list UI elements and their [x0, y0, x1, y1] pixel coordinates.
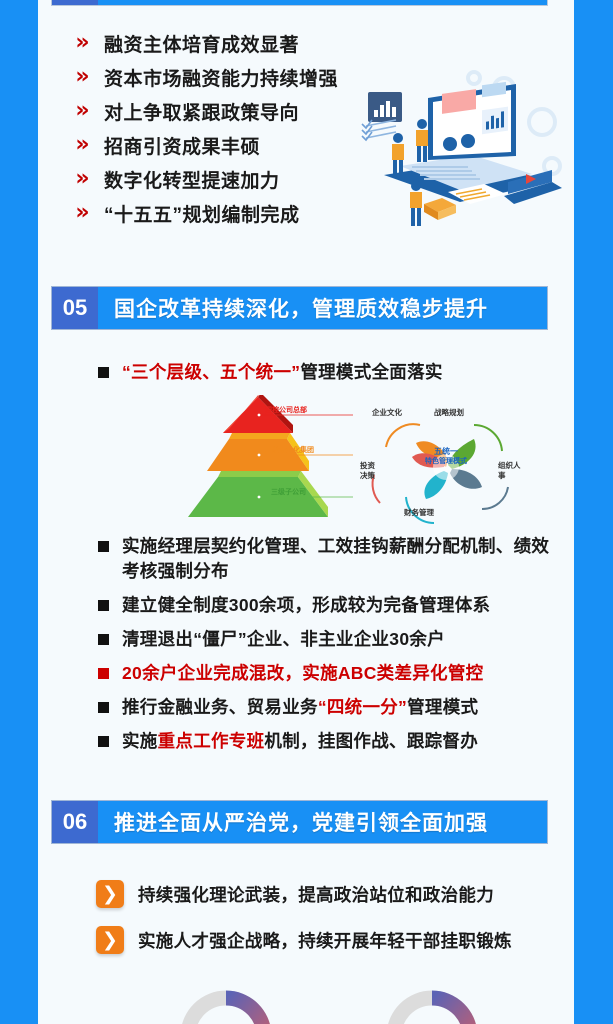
normal-text: 推行金融业务、贸易业务 [122, 697, 318, 717]
list-item: 实施重点工作专班机制，挂图作战、跟踪督办 [98, 729, 558, 754]
normal-text: 实施 [122, 731, 158, 751]
double-chevron-right-icon: » [58, 134, 104, 156]
list-item-label: 融资主体培育成效显著 [104, 30, 299, 57]
section05-bullet-list: 实施经理层契约化管理、工效挂钩薪酬分配机制、绩效考核强制分布 建立健全制度300… [98, 534, 558, 763]
list-item: 实施经理层契约化管理、工效挂钩薪酬分配机制、绩效考核强制分布 [98, 534, 558, 584]
list-item-label: 清理退出“僵尸”企业、非主业企业30余户 [122, 627, 445, 652]
list-item-label: 实施人才强企战略，持续开展年轻干部挂职锻炼 [138, 928, 512, 953]
square-bullet-icon [98, 634, 109, 645]
section05-lead-bullet: “三个层级、五个统一”管理模式全面落实 [98, 360, 558, 394]
double-chevron-right-icon: » [58, 100, 104, 122]
center-line-1: 五统一 [418, 447, 474, 457]
pyramid-level-label: 二级专业化集团 [265, 445, 314, 455]
normal-text: 管理模式 [407, 697, 478, 717]
list-item: » 融资主体培育成效显著 [58, 26, 418, 60]
highlight-text: “三个层级、五个统一” [122, 362, 300, 382]
circle-node-label: 战略规划 [434, 407, 464, 418]
section-title: 国企改革持续深化，管理质效稳步提升 [98, 287, 547, 329]
list-item-label: 实施重点工作专班机制，挂图作战、跟踪督办 [122, 729, 478, 754]
previous-section-header-partial [51, 0, 548, 6]
list-item-label: 资本市场融资能力持续增强 [104, 64, 338, 91]
square-bullet-icon [98, 367, 109, 378]
list-item-label: 招商引资成果丰硕 [104, 132, 260, 159]
double-chevron-right-icon: » [58, 168, 104, 190]
square-bullet-icon [98, 736, 109, 747]
pyramid-level-label: 国控公司总部 [265, 405, 307, 415]
highlight-text: “四统一分” [318, 697, 407, 717]
double-chevron-right-icon: » [58, 66, 104, 88]
section-number: 05 [52, 287, 98, 329]
list-item-label: 建立健全制度300余项，形成较为完备管理体系 [122, 593, 490, 618]
list-item: 推行金融业务、贸易业务“四统一分”管理模式 [98, 695, 558, 720]
list-item: “三个层级、五个统一”管理模式全面落实 [98, 360, 558, 385]
list-item-label: 对上争取紧跟政策导向 [104, 98, 299, 125]
isometric-laptop-dashboard-illustration [356, 70, 566, 235]
left-blue-band [0, 0, 38, 1024]
circle-node-label: 财务管理 [404, 507, 434, 518]
circle-node-label: 投资决策 [360, 461, 382, 481]
five-unified-circular-diagram: 五统一 特色管理模式 企业文化 战略规划 组织人事 财务管理 投资决策 [356, 395, 536, 535]
poster-page: » 融资主体培育成效显著 » 资本市场融资能力持续增强 » 对上争取紧跟政策导向… [0, 0, 613, 1024]
progress-donut-left [175, 985, 277, 1024]
double-chevron-right-icon: » [58, 202, 104, 224]
previous-section-number [52, 0, 98, 5]
progress-donut-row [38, 985, 574, 1024]
previous-section-bar [98, 0, 547, 5]
square-bullet-icon [98, 600, 109, 611]
square-bullet-icon [98, 541, 109, 552]
section-title: 推进全面从严治党，党建引领全面加强 [98, 801, 547, 843]
highlight-text: 重点工作专班 [158, 731, 265, 751]
normal-text: 机制，挂图作战、跟踪督办 [264, 731, 478, 751]
section-header-05[interactable]: 05 国企改革持续深化，管理质效稳步提升 [51, 286, 548, 330]
pyramid-level-label: 三级子公司 [271, 487, 306, 497]
progress-donut-right [381, 985, 483, 1024]
list-item: ❯ 实施人才强企战略，持续开展年轻干部挂职锻炼 [96, 926, 566, 954]
poster-canvas: » 融资主体培育成效显著 » 资本市场融资能力持续增强 » 对上争取紧跟政策导向… [38, 0, 574, 1024]
circle-center-label: 五统一 特色管理模式 [418, 447, 474, 467]
section-header-06[interactable]: 06 推进全面从严治党，党建引领全面加强 [51, 800, 548, 844]
section06-bullet-list: ❯ 持续强化理论武装，提高政治站位和政治能力 ❯ 实施人才强企战略，持续开展年轻… [96, 880, 566, 972]
center-line-2: 特色管理模式 [418, 457, 474, 467]
normal-text: 管理模式全面落实 [300, 362, 442, 382]
three-level-pyramid-diagram: 国控公司总部 二级专业化集团 三级子公司 [183, 395, 353, 530]
list-item-label: 持续强化理论武装，提高政治站位和政治能力 [138, 882, 494, 907]
list-item: 建立健全制度300余项，形成较为完备管理体系 [98, 593, 558, 618]
circle-node-label: 组织人事 [498, 461, 522, 481]
list-item: 清理退出“僵尸”企业、非主业企业30余户 [98, 627, 558, 652]
list-item-label: 推行金融业务、贸易业务“四统一分”管理模式 [122, 695, 478, 720]
chevron-right-arrow-icon: ❯ [96, 880, 124, 908]
square-bullet-icon [98, 702, 109, 713]
list-item-label: “十五五”规划编制完成 [104, 200, 300, 227]
list-item-highlighted: 20余户企业完成混改，实施ABC类差异化管控 [98, 661, 558, 686]
list-item-label: “三个层级、五个统一”管理模式全面落实 [122, 360, 443, 385]
diagram-row: 国控公司总部 二级专业化集团 三级子公司 [38, 395, 574, 535]
double-chevron-right-icon: » [58, 32, 104, 54]
circle-node-label: 企业文化 [372, 407, 402, 418]
square-bullet-icon [98, 668, 109, 679]
section-number: 06 [52, 801, 98, 843]
list-item-label: 数字化转型提速加力 [104, 166, 280, 193]
list-item-label: 实施经理层契约化管理、工效挂钩薪酬分配机制、绩效考核强制分布 [122, 534, 558, 584]
right-blue-band [574, 0, 613, 1024]
list-item: ❯ 持续强化理论武装，提高政治站位和政治能力 [96, 880, 566, 908]
chevron-right-arrow-icon: ❯ [96, 926, 124, 954]
list-item-label: 20余户企业完成混改，实施ABC类差异化管控 [122, 661, 483, 686]
